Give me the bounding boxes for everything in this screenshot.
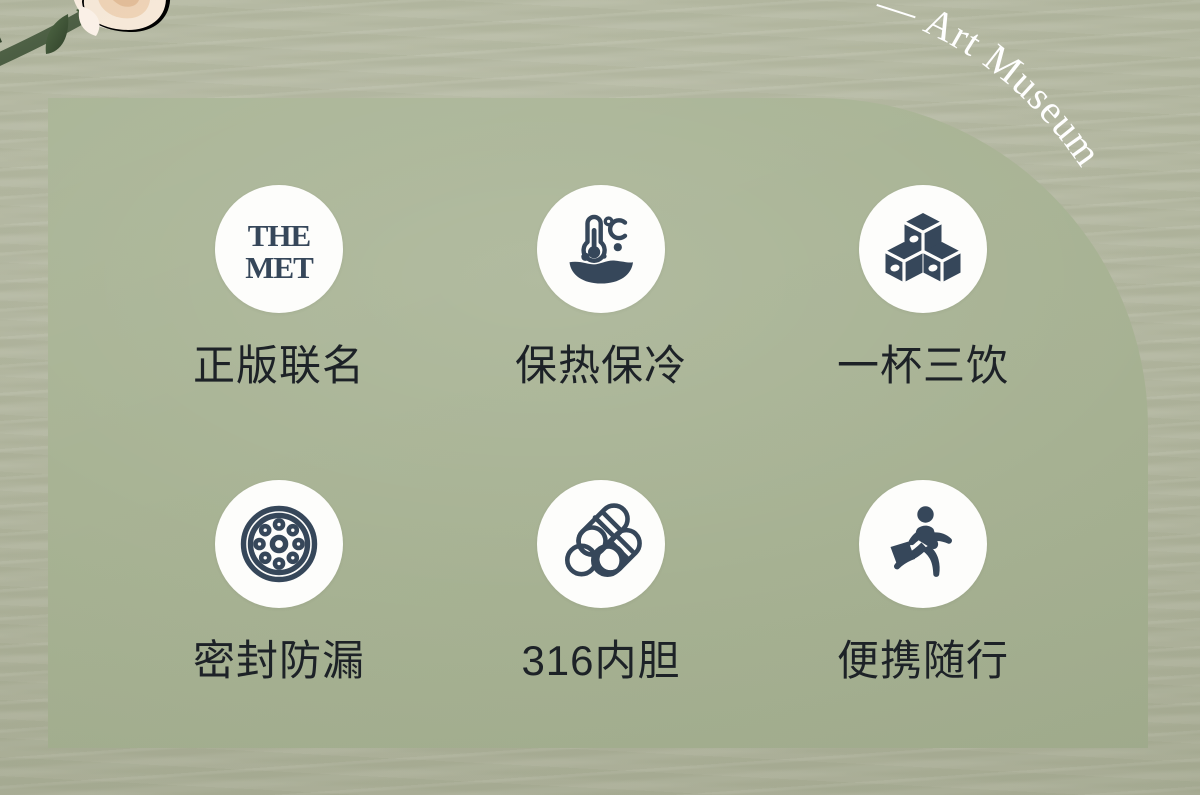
feature-label: 一杯三饮 — [837, 345, 1009, 387]
running-person-briefcase-icon — [882, 505, 964, 583]
feature-item-leak-proof[interactable]: 密封防漏 — [118, 480, 440, 775]
feature-label: 保热保冷 — [515, 345, 687, 387]
feature-item-three-drinks[interactable]: 一杯三饮 — [762, 185, 1084, 480]
feature-item-authentic-collab[interactable]: THE MET 正版联名 — [118, 185, 440, 480]
the-met-logo-icon: THE MET — [237, 207, 321, 291]
feature-label: 便携随行 — [837, 640, 1009, 682]
promo-banner: — Art Museum THE MET 正版联名 — [0, 0, 1200, 795]
feature-item-thermal-insulation[interactable]: 保热保冷 — [440, 185, 762, 480]
feature-label: 密封防漏 — [193, 640, 365, 682]
rose-flower-decoration — [0, 0, 202, 108]
feature-icon-badge — [215, 480, 343, 608]
sealing-gasket-icon — [239, 504, 319, 584]
svg-text:MET: MET — [245, 250, 314, 285]
steel-tubes-icon — [560, 503, 642, 585]
feature-item-portable[interactable]: 便携随行 — [762, 480, 1084, 775]
feature-label: 316内胆 — [521, 640, 680, 682]
feature-label: 正版联名 — [193, 345, 365, 387]
thermometer-celsius-icon — [560, 208, 642, 290]
svg-text:THE: THE — [248, 218, 311, 253]
feature-icon-badge: THE MET — [215, 185, 343, 313]
feature-grid: THE MET 正版联名 — [118, 185, 1084, 775]
feature-icon-badge — [859, 480, 987, 608]
feature-icon-badge — [859, 185, 987, 313]
feature-icon-badge — [537, 480, 665, 608]
ice-cubes-icon — [883, 209, 963, 289]
feature-item-steel-liner[interactable]: 316内胆 — [440, 480, 762, 775]
feature-icon-badge — [537, 185, 665, 313]
